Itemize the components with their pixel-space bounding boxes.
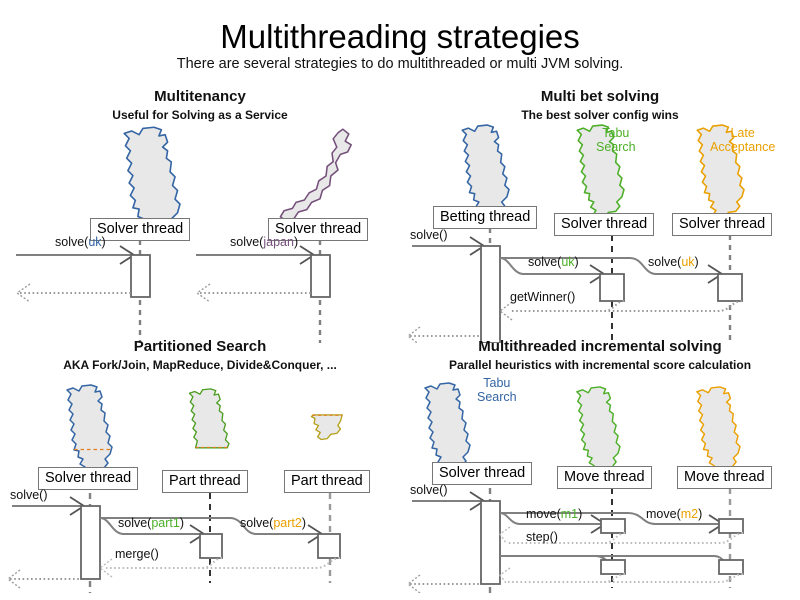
uk-map-icon-green bbox=[577, 387, 620, 473]
message-get-winner: getWinner() bbox=[510, 291, 575, 304]
message-solve-uk: solve(uk) bbox=[55, 236, 106, 249]
caption-late-acceptance: LateAcceptance bbox=[710, 126, 775, 155]
message-solve-uk-late: solve(uk) bbox=[648, 256, 699, 269]
thread-box-solver[interactable]: Solver thread bbox=[432, 462, 532, 485]
diagram-partitioned-search bbox=[0, 338, 400, 593]
uk-map-part2-icon bbox=[311, 415, 342, 440]
slide-root: Multithreading strategies There are seve… bbox=[0, 0, 800, 600]
uk-map-part1-icon bbox=[189, 389, 229, 448]
quadrant-partitioned-search: Partitioned Search AKA Fork/Join, MapRed… bbox=[0, 338, 400, 593]
uk-map-icon-blue bbox=[67, 385, 112, 475]
message-merge: merge() bbox=[115, 548, 159, 561]
thread-box-solver-1[interactable]: Solver thread bbox=[554, 213, 654, 236]
caption-tabu-search: TabuSearch bbox=[596, 126, 636, 155]
thread-box-part-1[interactable]: Part thread bbox=[162, 470, 248, 493]
uk-map-icon-blue bbox=[425, 383, 470, 473]
japan-map-icon bbox=[280, 129, 351, 220]
thread-box-solver-2[interactable]: Solver thread bbox=[672, 213, 772, 236]
page-subtitle: There are several strategies to do multi… bbox=[0, 56, 800, 72]
message-step: step() bbox=[526, 531, 558, 544]
quadrant-multithreaded-incremental-solving: Multithreaded incremental solving Parall… bbox=[400, 338, 800, 593]
message-solve: solve() bbox=[410, 484, 448, 497]
thread-box-part-2[interactable]: Part thread bbox=[284, 470, 370, 493]
quadrant-multi-bet-solving: Multi bet solving The best solver config… bbox=[400, 88, 800, 343]
diagram-multitenancy bbox=[0, 88, 400, 343]
caption-tabu-search: TabuSearch bbox=[477, 376, 517, 405]
uk-map-icon-orange bbox=[697, 387, 740, 473]
page-title: Multithreading strategies bbox=[0, 18, 800, 56]
message-solve-uk-tabu: solve(uk) bbox=[528, 256, 579, 269]
thread-box-move-1[interactable]: Move thread bbox=[557, 466, 652, 489]
thread-box-betting[interactable]: Betting thread bbox=[433, 206, 537, 229]
uk-map-icon-blue bbox=[462, 125, 509, 219]
thread-box-move-2[interactable]: Move thread bbox=[677, 466, 772, 489]
message-move-m2: move(m2) bbox=[646, 508, 702, 521]
message-solve-part2: solve(part2) bbox=[240, 517, 306, 530]
message-solve-part1: solve(part1) bbox=[118, 517, 184, 530]
message-move-m1: move(m1) bbox=[526, 508, 582, 521]
message-solve: solve() bbox=[410, 229, 448, 242]
thread-box-solver[interactable]: Solver thread bbox=[38, 467, 138, 490]
message-solve: solve() bbox=[10, 489, 48, 502]
quadrant-multitenancy: Multitenancy Useful for Solving as a Ser… bbox=[0, 88, 400, 343]
message-solve-japan: solve(japan) bbox=[230, 236, 298, 249]
